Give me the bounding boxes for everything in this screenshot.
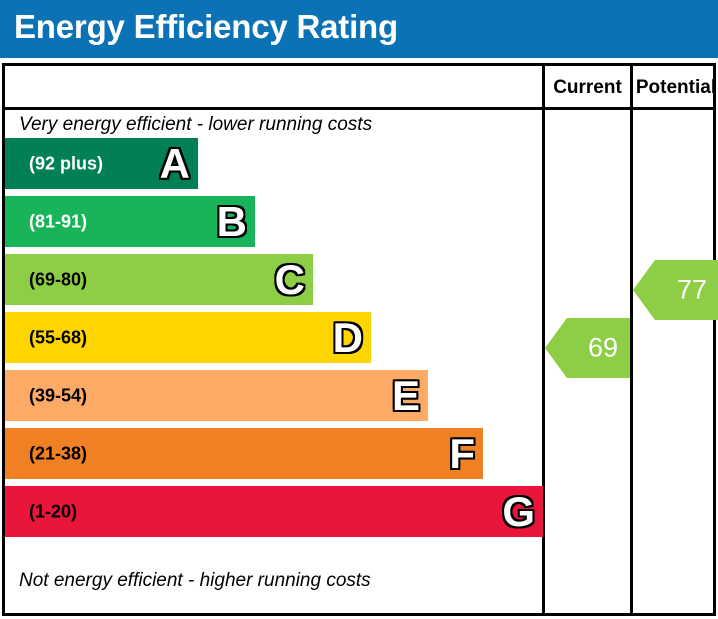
band-letter-g: G [502,491,535,533]
band-letter-e: E [392,375,420,417]
caption-very-efficient: Very energy efficient - lower running co… [19,114,372,136]
potential-column-header: Potential [633,74,718,102]
rating-band-d: (55-68)D [5,312,371,363]
rating-band-f: (21-38)F [5,428,483,479]
energy-efficiency-rating-chart: Energy Efficiency Rating Current Potenti… [0,0,718,619]
current-rating-arrow: 69 [545,318,630,378]
band-range-label-c: (69-80) [29,269,87,290]
potential-column-divider [630,66,633,613]
page-title: Energy Efficiency Rating [14,8,398,46]
band-range-label-a: (92 plus) [29,153,103,174]
caption-not-efficient: Not energy efficient - higher running co… [19,570,371,592]
header-divider [5,107,713,110]
band-range-label-g: (1-20) [29,501,77,522]
potential-rating-value: 77 [677,277,707,304]
potential-rating-arrow: 77 [633,260,718,320]
band-letter-f: F [449,433,475,475]
current-rating-value: 69 [588,335,618,362]
ratings-table: Current Potential Very energy efficient … [2,63,716,616]
rating-band-c: (69-80)C [5,254,313,305]
band-range-label-e: (39-54) [29,385,87,406]
band-range-label-b: (81-91) [29,211,87,232]
rating-band-e: (39-54)E [5,370,428,421]
band-range-label-f: (21-38) [29,443,87,464]
band-letter-c: C [275,259,305,301]
band-letter-b: B [217,201,247,243]
band-range-label-d: (55-68) [29,327,87,348]
current-column-header: Current [545,74,630,102]
rating-band-g: (1-20)G [5,486,543,537]
chart-title-bar: Energy Efficiency Rating [0,0,718,58]
rating-band-b: (81-91)B [5,196,255,247]
band-letter-d: D [333,317,363,359]
rating-band-a: (92 plus)A [5,138,198,189]
band-letter-a: A [160,143,190,185]
